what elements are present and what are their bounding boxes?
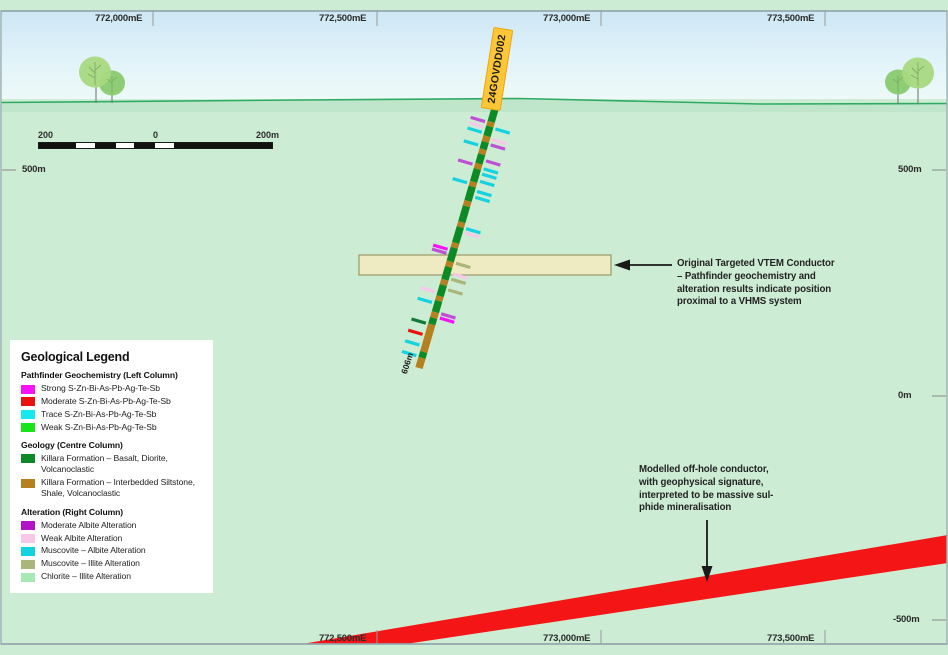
legend-item-label: Muscovite – Illite Alteration [41,558,140,569]
legend-swatch [21,573,35,582]
legend-item-label: Muscovite – Albite Alteration [41,545,146,556]
legend-item: Killara Formation – Basalt, Diorite, Vol… [21,453,203,476]
legend-swatch [21,479,35,488]
legend-item: Chlorite – Illite Alteration [21,571,203,582]
drillhole-segment-brown [482,149,483,154]
legend-item-label: Trace S-Zn-Bi-As-Pb-Ag-Te-Sb [41,409,156,420]
axis-label-top-1: 772,500mE [319,13,366,24]
legend-group: Pathfinder Geochemistry (Left Column)Str… [21,370,203,433]
legend-swatch [21,423,35,432]
legend-group: Geology (Centre Column)Killara Formation… [21,440,203,500]
drillhole-segment-brown [439,296,440,301]
sky [0,11,948,103]
legend-group-heading: Alteration (Right Column) [21,507,203,517]
legend-item: Moderate S-Zn-Bi-As-Pb-Ag-Te-Sb [21,396,203,407]
drillhole-segment-brown [454,243,455,248]
legend-item-label: Moderate Albite Alteration [41,520,136,531]
axis-label-bottom-1: 773,000mE [543,633,590,644]
drillhole-segment-green [445,267,449,280]
drillhole-segment-brown [490,122,491,127]
legend-swatch [21,560,35,569]
legend-item: Strong S-Zn-Bi-As-Pb-Ag-Te-Sb [21,383,203,394]
drillhole-segment-green [440,285,443,296]
drillhole-segment-green [474,169,478,182]
drillhole-segment-brown [460,222,461,227]
drillhole-segment-green [468,187,472,201]
annotation-offhole-conductor: Modelled off-hole conductor, with geophy… [639,464,819,515]
legend-title: Geological Legend [21,350,203,364]
scalebar-label-right: 200m [256,130,279,140]
geological-legend: Geological Legend Pathfinder Geochemistr… [10,340,213,593]
legend-swatch [21,521,35,530]
vtem-conductor-box [359,255,611,275]
drillhole-segment-brown [477,164,479,169]
legend-group-heading: Geology (Centre Column) [21,440,203,450]
legend-group: Alteration (Right Column)Moderate Albite… [21,507,203,583]
legend-swatch [21,454,35,463]
legend-item-label: Moderate S-Zn-Bi-As-Pb-Ag-Te-Sb [41,396,171,407]
legend-item: Trace S-Zn-Bi-As-Pb-Ag-Te-Sb [21,409,203,420]
scale-bar-track [38,142,273,149]
drillhole-segment-green [483,142,485,149]
legend-swatch [21,547,35,556]
axis-label-right-0m: 0m [898,390,911,401]
axis-label-top-3: 773,500mE [767,13,814,24]
axis-label-right-m500: -500m [893,614,919,625]
scalebar-label-mid: 0 [153,130,158,140]
axis-label-top-2: 773,000mE [543,13,590,24]
legend-item-label: Killara Formation – Basalt, Diorite, Vol… [41,453,203,476]
legend-swatch [21,397,35,406]
legend-item-label: Weak Albite Alteration [41,533,122,544]
annotation-vtem-conductor: Original Targeted VTEM Conductor – Pathf… [677,258,877,309]
scale-bar: 200 0 200m [38,130,273,149]
legend-groups: Pathfinder Geochemistry (Left Column)Str… [21,370,203,582]
scalebar-label-left: 200 [38,130,53,140]
drillhole-segment-brown [419,358,422,368]
drillhole-segment-brown [449,262,451,267]
drillhole-segment-green [422,352,424,358]
axis-label-bottom-0: 772,500mE [319,633,366,644]
legend-item: Killara Formation – Interbedded Siltston… [21,477,203,500]
axis-label-bottom-2: 773,500mE [767,633,814,644]
drillhole-segment-green [479,154,482,164]
drillhole-segment-brown [443,280,445,285]
legend-item: Muscovite – Albite Alteration [21,545,203,556]
drillhole-segment-green [432,318,434,324]
legend-item: Moderate Albite Alteration [21,520,203,531]
legend-item: Muscovite – Illite Alteration [21,558,203,569]
drillhole-segment-brown [472,182,473,187]
drillhole-segment-brown [434,312,436,318]
drillhole-segment-green [462,206,467,222]
axis-label-left-500m: 500m [22,164,46,175]
legend-item: Weak S-Zn-Bi-As-Pb-Ag-Te-Sb [21,422,203,433]
legend-item-label: Weak S-Zn-Bi-As-Pb-Ag-Te-Sb [41,422,157,433]
drillhole-segment-green [487,126,490,136]
legend-swatch [21,410,35,419]
legend-item: Weak Albite Alteration [21,533,203,544]
axis-label-top-0: 772,000mE [95,13,142,24]
legend-swatch [21,534,35,543]
legend-group-heading: Pathfinder Geochemistry (Left Column) [21,370,203,380]
drillhole-segment-brown [485,136,487,142]
drillhole-segment-brown [466,201,468,206]
drillhole-segment-green [435,301,438,312]
legend-swatch [21,385,35,394]
axis-label-right-500m: 500m [898,164,922,175]
legend-item-label: Killara Formation – Interbedded Siltston… [41,477,203,500]
drillhole-segment-green [456,227,461,243]
drillhole-segment-green [450,248,454,262]
legend-item-label: Strong S-Zn-Bi-As-Pb-Ag-Te-Sb [41,383,160,394]
cross-section-figure: 772,000mE 772,500mE 773,000mE 773,500mE … [0,0,948,655]
legend-item-label: Chlorite – Illite Alteration [41,571,131,582]
